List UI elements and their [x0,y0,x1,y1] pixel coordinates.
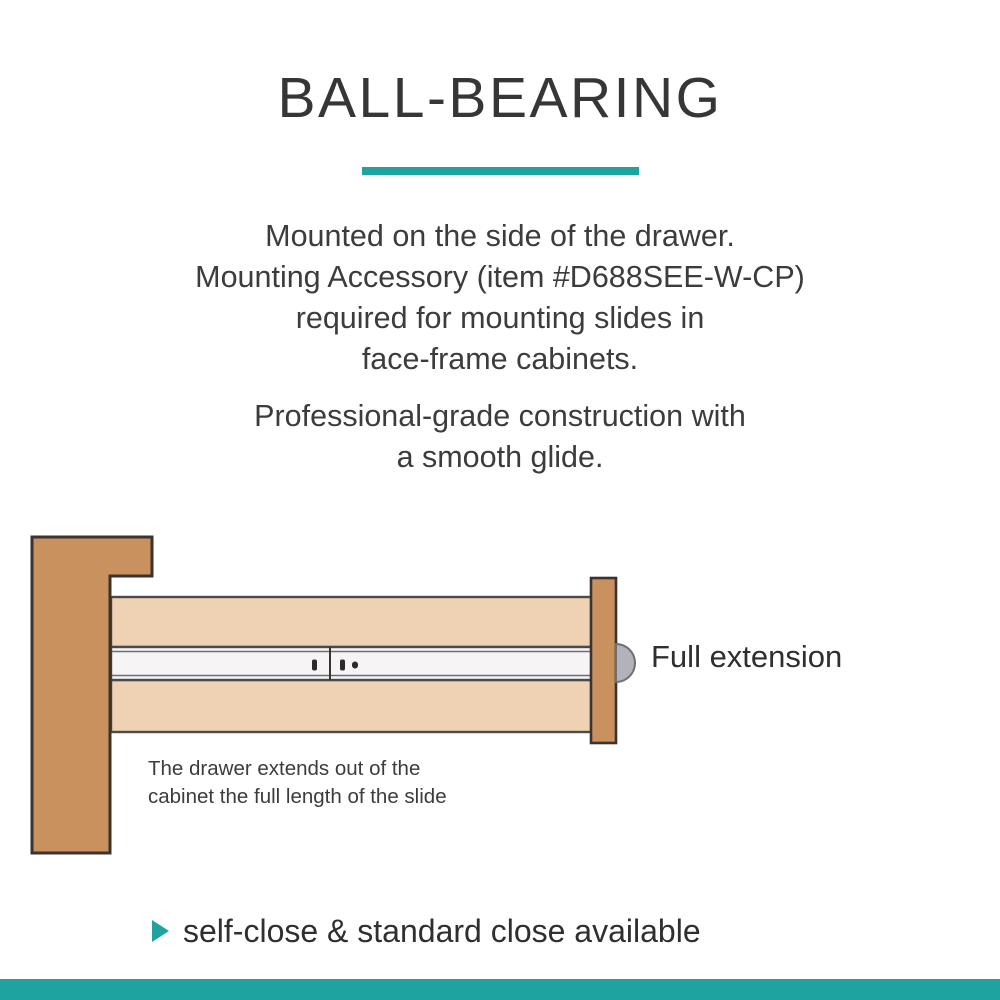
drawer-box-upper-panel [111,597,592,647]
description-line: Mounted on the side of the drawer. [0,216,1000,257]
drawer-box-lower-panel [111,680,592,732]
bottom-accent-bar [0,979,1000,1000]
bearing-rivet-mark [340,660,345,671]
full-extension-label: Full extension [651,641,842,672]
page-title: BALL-BEARING [0,70,1000,127]
drawer-front-panel [591,578,616,743]
description-line: face-frame cabinets. [0,339,1000,380]
title-divider-rule [362,167,639,175]
drawer-slide-diagram [0,520,1000,880]
infographic-page: BALL-BEARING Mounted on the side of the … [0,0,1000,1000]
description-line: a smooth glide. [0,437,1000,478]
feature-bullet-label: self-close & standard close available [183,915,701,947]
description-paragraph-1: Mounted on the side of the drawer. Mount… [0,216,1000,380]
triangle-right-icon [152,920,169,942]
bearing-rivet-mark [352,662,358,669]
diagram-caption: The drawer extends out of the cabinet th… [148,755,447,811]
feature-bullet-row: self-close & standard close available [152,915,701,947]
drawer-knob-icon [616,644,635,682]
description-line: Professional-grade construction with [0,396,1000,437]
description-paragraph-2: Professional-grade construction with a s… [0,396,1000,478]
description-line: Mounting Accessory (item #D688SEE-W-CP) [0,257,1000,298]
caption-line: The drawer extends out of the [148,755,447,783]
description-line: required for mounting slides in [0,298,1000,339]
bearing-rivet-mark [312,660,317,671]
caption-line: cabinet the full length of the slide [148,783,447,811]
